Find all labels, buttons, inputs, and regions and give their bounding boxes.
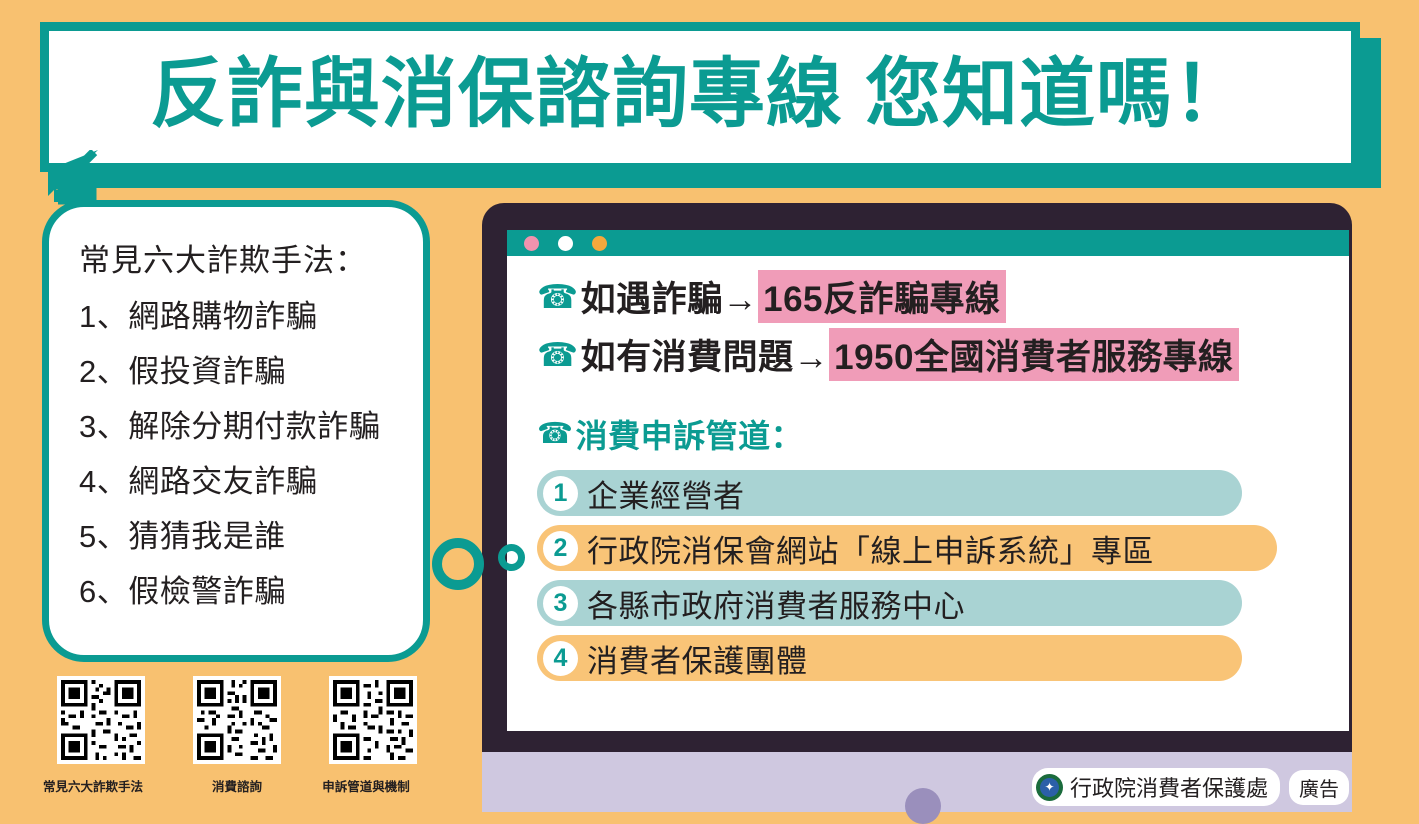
screen-content: ☎ 如遇詐騙→ 165反詐騙專線 ☎ 如有消費問題→ 1950全國消費者服務專線…	[537, 270, 1327, 690]
channels-heading: ☎ 消費申訴管道：	[537, 411, 1327, 457]
footer-badge: ✦ 行政院消費者保護處 廣告	[1032, 768, 1349, 806]
maximize-icon[interactable]	[592, 236, 607, 251]
emblem-sun-icon: ✦	[1040, 778, 1059, 797]
qr-code-icon	[193, 676, 281, 764]
telephone-icon: ☎	[537, 338, 579, 371]
hotline-row-consumer: ☎ 如有消費問題→ 1950全國消費者服務專線	[537, 328, 1327, 381]
hotline-prefix-consumer: 如有消費問題→	[581, 329, 830, 380]
telephone-icon: ☎	[537, 280, 579, 313]
qr-label-complaint-channels: 申訴管道與機制	[310, 776, 422, 795]
qr-label-fraud-methods: 常見六大詐欺手法	[36, 776, 150, 795]
fraud-methods-heading: 常見六大詐欺手法：	[79, 235, 423, 280]
national-emblem-icon: ✦	[1036, 774, 1063, 801]
fraud-item-1: 1、網路購物詐騙	[79, 291, 423, 336]
hotline-prefix-antifraud: 如遇詐騙→	[581, 271, 759, 322]
qr-block-consumer-consult[interactable]: 消費諮詢	[188, 676, 286, 795]
qr-code-icon	[57, 676, 145, 764]
fraud-item-2: 2、假投資詐騙	[79, 346, 423, 391]
agency-chip: ✦ 行政院消費者保護處	[1032, 768, 1280, 806]
hotline-row-antifraud: ☎ 如遇詐騙→ 165反詐騙專線	[537, 270, 1327, 323]
channel-item-1[interactable]: 1 企業經營者	[537, 470, 1242, 516]
telephone-icon: ☎	[537, 420, 574, 449]
channels-heading-label: 消費申訴管道：	[576, 411, 804, 457]
channel-label-3: 各縣市政府消費者服務中心	[587, 581, 965, 626]
page-title: 反詐與消保諮詢專線 您知道嗎！	[150, 57, 1250, 133]
title-banner: 反詐與消保諮詢專線 您知道嗎！	[40, 22, 1360, 172]
qr-code-icon	[329, 676, 417, 764]
hotline-number-antifraud: 165反詐騙專線	[758, 270, 1005, 323]
channel-label-2: 行政院消保會網站「線上申訴系統」專區	[587, 526, 1154, 571]
qr-block-complaint-channels[interactable]: 申訴管道與機制	[324, 676, 422, 795]
agency-name: 行政院消費者保護處	[1070, 771, 1268, 803]
channel-item-3[interactable]: 3 各縣市政府消費者服務中心	[537, 580, 1242, 626]
minimize-icon[interactable]	[558, 236, 573, 251]
channel-number-2: 2	[543, 531, 578, 566]
ad-badge: 廣告	[1289, 770, 1349, 805]
hotline-number-consumer: 1950全國消費者服務專線	[829, 328, 1238, 381]
qr-code-row: 常見六大詐欺手法	[52, 676, 452, 795]
title-banner-inner: 反詐與消保諮詢專線 您知道嗎！	[49, 31, 1351, 163]
trackpad	[905, 788, 941, 824]
channel-item-2[interactable]: 2 行政院消保會網站「線上申訴系統」專區	[537, 525, 1277, 571]
decorative-ring-large-icon	[432, 538, 484, 590]
window-titlebar	[507, 230, 1349, 256]
decorative-ring-small-icon	[498, 544, 525, 571]
fraud-item-6: 6、假檢警詐騙	[79, 566, 423, 611]
qr-block-fraud-methods[interactable]: 常見六大詐欺手法	[52, 676, 150, 795]
channel-item-4[interactable]: 4 消費者保護團體	[537, 635, 1242, 681]
channel-number-3: 3	[543, 586, 578, 621]
fraud-item-4: 4、網路交友詐騙	[79, 456, 423, 501]
channel-number-4: 4	[543, 641, 578, 676]
fraud-item-5: 5、猜猜我是誰	[79, 511, 423, 556]
fraud-item-3: 3、解除分期付款詐騙	[79, 401, 423, 446]
qr-label-consumer-consult: 消費諮詢	[188, 776, 286, 795]
fraud-methods-card: 常見六大詐欺手法： 1、網路購物詐騙 2、假投資詐騙 3、解除分期付款詐騙 4、…	[42, 200, 430, 662]
close-icon[interactable]	[524, 236, 539, 251]
channel-label-4: 消費者保護團體	[587, 636, 808, 681]
channel-number-1: 1	[543, 476, 578, 511]
channel-label-1: 企業經營者	[587, 471, 745, 516]
